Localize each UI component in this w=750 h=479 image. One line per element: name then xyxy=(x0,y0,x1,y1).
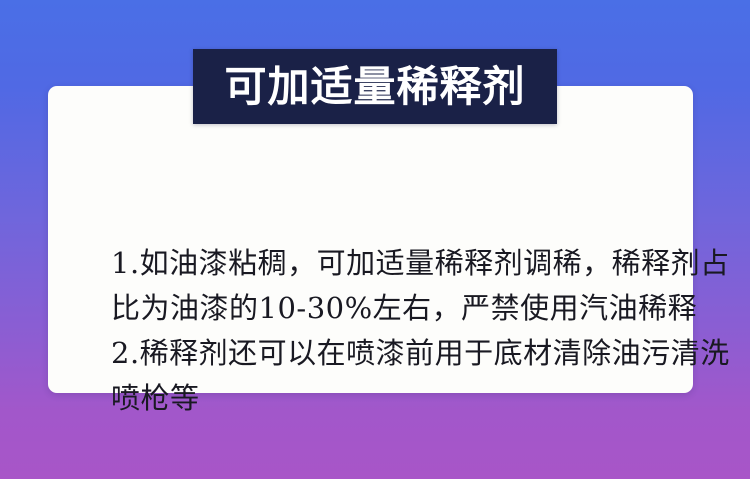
promo-poster: 1.如油漆粘稠，可加适量稀释剂调稀，稀释剂占 比为油漆的10-30%左右，严禁使… xyxy=(0,0,750,479)
list-item: 喷枪等 xyxy=(111,376,731,421)
list-item: 2.稀释剂还可以在喷漆前用于底材清除油污清洗 xyxy=(111,331,731,376)
list-item: 比为油漆的10-30%左右，严禁使用汽油稀释 xyxy=(111,286,731,331)
title-banner: 可加适量稀释剂 xyxy=(193,49,557,124)
page-title: 可加适量稀释剂 xyxy=(224,66,525,108)
info-card: 1.如油漆粘稠，可加适量稀释剂调稀，稀释剂占 比为油漆的10-30%左右，严禁使… xyxy=(48,86,693,393)
list-item: 1.如油漆粘稠，可加适量稀释剂调稀，稀释剂占 xyxy=(111,241,731,286)
instruction-list: 1.如油漆粘稠，可加适量稀释剂调稀，稀释剂占 比为油漆的10-30%左右，严禁使… xyxy=(111,241,731,421)
